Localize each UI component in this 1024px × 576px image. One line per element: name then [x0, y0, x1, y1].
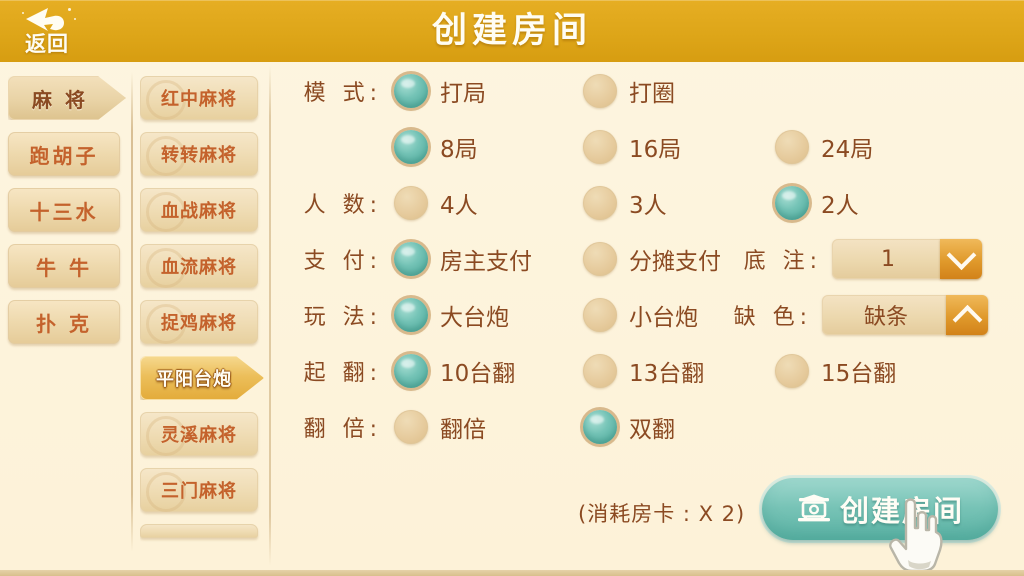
radio-unselected-icon[interactable] — [583, 298, 617, 332]
base-bet-dropdown[interactable]: 1 — [832, 239, 982, 279]
sidebar-item-shisanshui[interactable]: 十三水 — [8, 188, 120, 232]
variant-label: 灵溪麻将 — [140, 412, 258, 456]
option-label: 4人 — [440, 186, 478, 220]
missing-suit-dropdown[interactable]: 缺条 — [822, 295, 988, 335]
start-fan-label: 起 翻: — [296, 348, 382, 394]
start-fan-option-13[interactable]: 13台翻 — [583, 348, 704, 394]
create-room-button[interactable]: 创建房间 — [762, 478, 998, 540]
chevron-up-icon[interactable] — [946, 295, 988, 335]
option-label: 打圈 — [629, 74, 675, 108]
title-bar: 返回 创建房间 — [0, 0, 1024, 62]
category-label: 扑 克 — [8, 300, 120, 344]
sidebar-item-paohuzi[interactable]: 跑胡子 — [8, 132, 120, 176]
option-row-payment: 支 付: 房主支付 分摊支付 底 注: 1 — [276, 236, 1024, 282]
payment-label: 支 付: — [296, 236, 382, 282]
option-label: 双翻 — [629, 410, 675, 444]
game-category-sidebar: 麻 将 跑胡子 十三水 牛 牛 扑 克 红中麻将 转转麻将 血战麻将 — [0, 62, 272, 572]
multiplier-option-double[interactable]: 双翻 — [583, 404, 675, 450]
variant-item-zhuoji[interactable]: 捉鸡麻将 — [140, 300, 258, 344]
option-label: 10台翻 — [440, 354, 515, 388]
option-label: 房主支付 — [440, 242, 532, 276]
radio-selected-icon[interactable] — [394, 354, 428, 388]
players-option-3[interactable]: 3人 — [583, 180, 667, 226]
variant-item-sanmen[interactable]: 三门麻将 — [140, 468, 258, 512]
option-label: 3人 — [629, 186, 667, 220]
variant-item-xueliu[interactable]: 血流麻将 — [140, 244, 258, 288]
variant-item-pingyangtaipao[interactable]: 平阳台炮 — [140, 356, 264, 400]
create-room-screen: 返回 创建房间 麻 将 跑胡子 十三水 牛 牛 扑 克 红 — [0, 0, 1024, 576]
sidebar-divider — [131, 72, 133, 552]
radio-selected-icon[interactable] — [394, 74, 428, 108]
variant-item-zhuanzhuan[interactable]: 转转麻将 — [140, 132, 258, 176]
radio-selected-icon[interactable] — [775, 186, 809, 220]
start-fan-option-15[interactable]: 15台翻 — [775, 348, 896, 394]
payment-option-split[interactable]: 分摊支付 — [583, 236, 721, 282]
variant-item-xuezhan[interactable]: 血战麻将 — [140, 188, 258, 232]
option-label: 8局 — [440, 130, 478, 164]
playstyle-option-small[interactable]: 小台炮 — [583, 292, 698, 338]
bottom-border — [0, 570, 1024, 576]
mode-label: 模 式: — [296, 68, 382, 114]
variant-item-partial[interactable] — [140, 524, 258, 538]
radio-unselected-icon[interactable] — [583, 186, 617, 220]
multiplier-label: 翻 倍: — [296, 404, 382, 450]
sidebar-item-mahjong[interactable]: 麻 将 — [8, 76, 126, 120]
page-title: 创建房间 — [0, 4, 1024, 58]
option-row-start-fan: 起 翻: 10台翻 13台翻 15台翻 — [276, 348, 1024, 394]
sidebar-item-poker[interactable]: 扑 克 — [8, 300, 120, 344]
playstyle-option-big[interactable]: 大台炮 — [394, 292, 509, 338]
option-label: 打局 — [440, 74, 486, 108]
category-label: 麻 将 — [8, 76, 112, 120]
players-label: 人 数: — [296, 180, 382, 226]
option-label: 24局 — [821, 130, 873, 164]
mode-option-daju[interactable]: 打局 — [394, 68, 486, 114]
variant-label: 平阳台炮 — [140, 356, 248, 400]
rounds-option-16[interactable]: 16局 — [583, 124, 681, 170]
sidebar-item-niuniu[interactable]: 牛 牛 — [8, 244, 120, 288]
variant-label: 捉鸡麻将 — [140, 300, 258, 344]
missing-suit-label: 缺 色: — [726, 292, 812, 338]
category-label: 牛 牛 — [8, 244, 120, 288]
rounds-option-8[interactable]: 8局 — [394, 124, 478, 170]
radio-selected-icon[interactable] — [394, 130, 428, 164]
players-option-2[interactable]: 2人 — [775, 180, 859, 226]
variant-label: 转转麻将 — [140, 132, 258, 176]
option-label: 翻倍 — [440, 410, 486, 444]
category-label: 十三水 — [8, 188, 120, 232]
option-row-multiplier: 翻 倍: 翻倍 双翻 — [276, 404, 1024, 450]
base-bet-label: 底 注: — [736, 236, 822, 282]
option-label: 15台翻 — [821, 354, 896, 388]
category-column: 麻 将 跑胡子 十三水 牛 牛 扑 克 — [8, 76, 126, 356]
radio-unselected-icon[interactable] — [583, 130, 617, 164]
playstyle-label: 玩 法: — [296, 292, 382, 338]
house-icon — [796, 493, 832, 525]
variant-item-hongzhong[interactable]: 红中麻将 — [140, 76, 258, 120]
option-label: 16局 — [629, 130, 681, 164]
room-card-cost: (消耗房卡 : X 2) — [578, 498, 745, 528]
players-option-4[interactable]: 4人 — [394, 180, 478, 226]
radio-selected-icon[interactable] — [394, 242, 428, 276]
option-row-mode: 模 式: 打局 打圈 — [276, 68, 1024, 114]
game-variant-list[interactable]: 红中麻将 转转麻将 血战麻将 血流麻将 捉鸡麻将 平阳台炮 灵溪麻将 三门麻将 — [140, 76, 264, 572]
dropdown-box[interactable]: 缺条 — [822, 295, 988, 335]
dropdown-box[interactable]: 1 — [832, 239, 982, 279]
option-row-rounds: 8局 16局 24局 — [276, 124, 1024, 170]
radio-unselected-icon[interactable] — [394, 410, 428, 444]
radio-unselected-icon[interactable] — [583, 74, 617, 108]
radio-unselected-icon[interactable] — [583, 242, 617, 276]
radio-unselected-icon[interactable] — [775, 354, 809, 388]
rounds-option-24[interactable]: 24局 — [775, 124, 873, 170]
option-label: 小台炮 — [629, 298, 698, 332]
variant-label: 三门麻将 — [140, 468, 258, 512]
radio-selected-icon[interactable] — [583, 410, 617, 444]
chevron-down-icon[interactable] — [940, 239, 982, 279]
base-bet-value: 1 — [832, 239, 944, 279]
variant-label: 红中麻将 — [140, 76, 258, 120]
radio-unselected-icon[interactable] — [583, 354, 617, 388]
option-row-players: 人 数: 4人 3人 2人 — [276, 180, 1024, 226]
option-row-playstyle: 玩 法: 大台炮 小台炮 缺 色: 缺条 — [276, 292, 1024, 338]
variant-label: 血流麻将 — [140, 244, 258, 288]
category-label: 跑胡子 — [8, 132, 120, 176]
create-room-label: 创建房间 — [840, 488, 964, 530]
mode-option-daquan[interactable]: 打圈 — [583, 68, 675, 114]
payment-option-host[interactable]: 房主支付 — [394, 236, 532, 282]
variant-label: 血战麻将 — [140, 188, 258, 232]
radio-unselected-icon[interactable] — [394, 186, 428, 220]
radio-selected-icon[interactable] — [394, 298, 428, 332]
multiplier-option-single[interactable]: 翻倍 — [394, 404, 486, 450]
sidebar-right-divider — [269, 66, 271, 566]
variant-item-lingxi[interactable]: 灵溪麻将 — [140, 412, 258, 456]
option-label: 分摊支付 — [629, 242, 721, 276]
start-fan-option-10[interactable]: 10台翻 — [394, 348, 515, 394]
missing-suit-value: 缺条 — [822, 295, 950, 335]
option-label: 大台炮 — [440, 298, 509, 332]
option-label: 2人 — [821, 186, 859, 220]
radio-unselected-icon[interactable] — [775, 130, 809, 164]
option-label: 13台翻 — [629, 354, 704, 388]
